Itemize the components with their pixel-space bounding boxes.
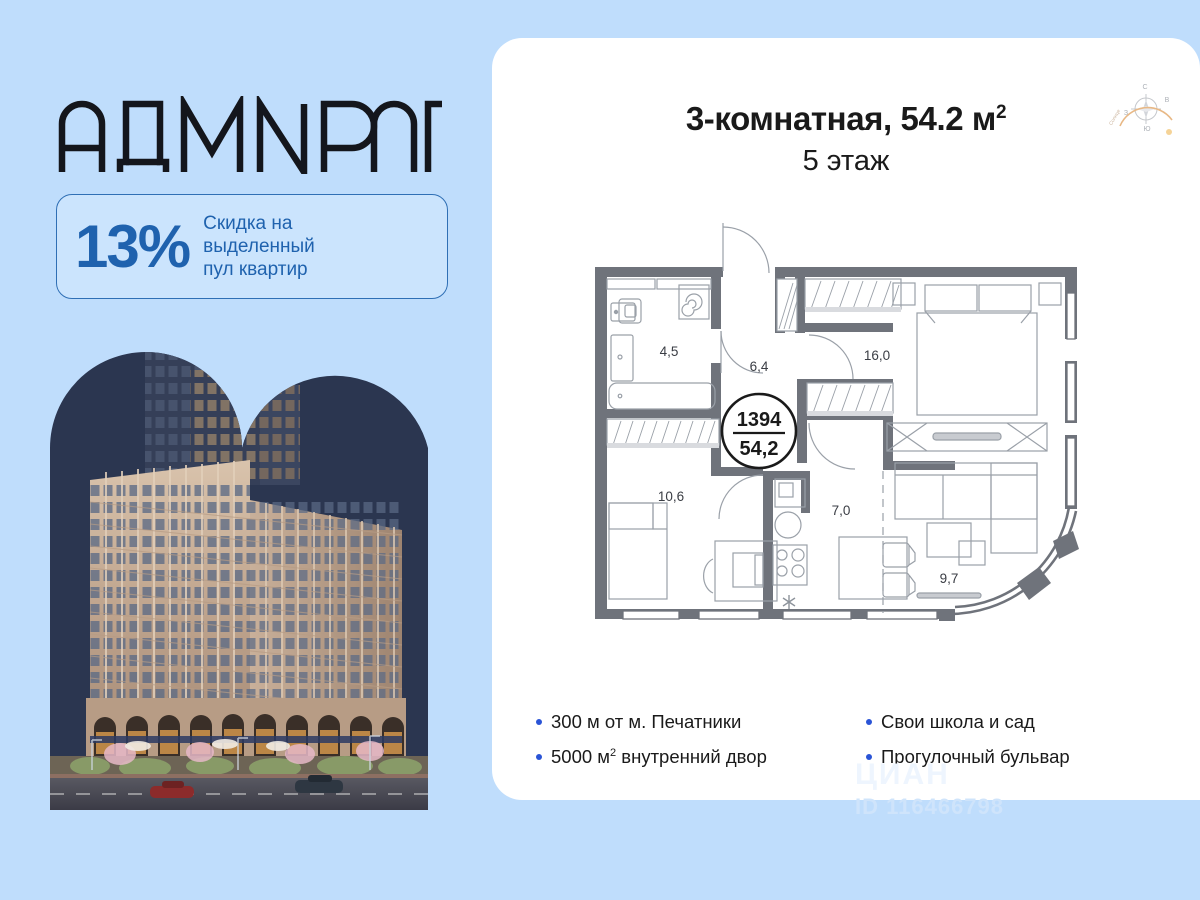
bullet-dot-icon: [536, 754, 542, 760]
plan-title-sup: 2: [996, 102, 1006, 123]
discount-badge: 13% Скидка на выделенный пул квартир: [56, 194, 448, 299]
room-area-bathroom: 4,5: [660, 344, 679, 359]
bullet-dot-icon: [866, 719, 872, 725]
discount-percent: 13%: [75, 217, 189, 277]
plan-floor-label: 5 этаж: [492, 145, 1200, 178]
svg-text:С: С: [1142, 84, 1147, 91]
apartment-badge: 1394 54,2: [722, 394, 796, 468]
bullet-dot-icon: [866, 754, 872, 760]
discount-line-1: Скидка на: [203, 212, 315, 235]
room-area-living: 9,7: [940, 571, 959, 586]
left-brand-panel: 13% Скидка на выделенный пул квартир: [0, 0, 492, 900]
plan-title-text: 3-комнатная, 54.2 м: [686, 100, 996, 137]
feature-school-label: Свои школа и сад: [881, 711, 1035, 733]
svg-text:54,2: 54,2: [740, 438, 779, 460]
feature-metro: 300 м от м. Печатники: [536, 711, 866, 733]
discount-line-2: выделенный: [203, 235, 315, 258]
feature-boulevard: Прогулочный бульвар: [866, 746, 1166, 768]
features-list: 300 м от м. Печатники Свои школа и сад 5…: [536, 711, 1166, 768]
feature-courtyard: 5000 м2 внутренний двор: [536, 746, 866, 768]
bullet-dot-icon: [536, 719, 542, 725]
svg-text:1394: 1394: [737, 409, 782, 431]
feature-boulevard-label: Прогулочный бульвар: [881, 746, 1070, 768]
feature-school: Свои школа и сад: [866, 711, 1166, 733]
floor-plan-drawing: 4,5 6,4 16,0 10,6 7,0 9,7 1394 54,2: [587, 223, 1107, 663]
plan-header: 3-комнатная, 54.2 м2 5 этаж: [492, 100, 1200, 178]
room-area-hallway: 6,4: [750, 359, 769, 374]
room-area-kitchen: 7,0: [832, 503, 851, 518]
room-area-bedroom-second: 10,6: [658, 489, 684, 504]
building-render-photo: [50, 330, 428, 810]
page-title: 3-комнатная, 54.2 м2: [492, 100, 1200, 138]
brand-logo: [56, 96, 448, 174]
discount-line-3: пул квартир: [203, 258, 315, 281]
discount-description: Скидка на выделенный пул квартир: [203, 212, 315, 282]
room-area-bedroom-master: 16,0: [864, 348, 890, 363]
floor-plan-card: С В Ю З Солнце 3-комнатная, 54.2 м2 5 эт…: [492, 38, 1200, 800]
feature-metro-label: 300 м от м. Печатники: [551, 711, 741, 733]
feature-courtyard-label: 5000 м2 внутренний двор: [551, 746, 767, 768]
